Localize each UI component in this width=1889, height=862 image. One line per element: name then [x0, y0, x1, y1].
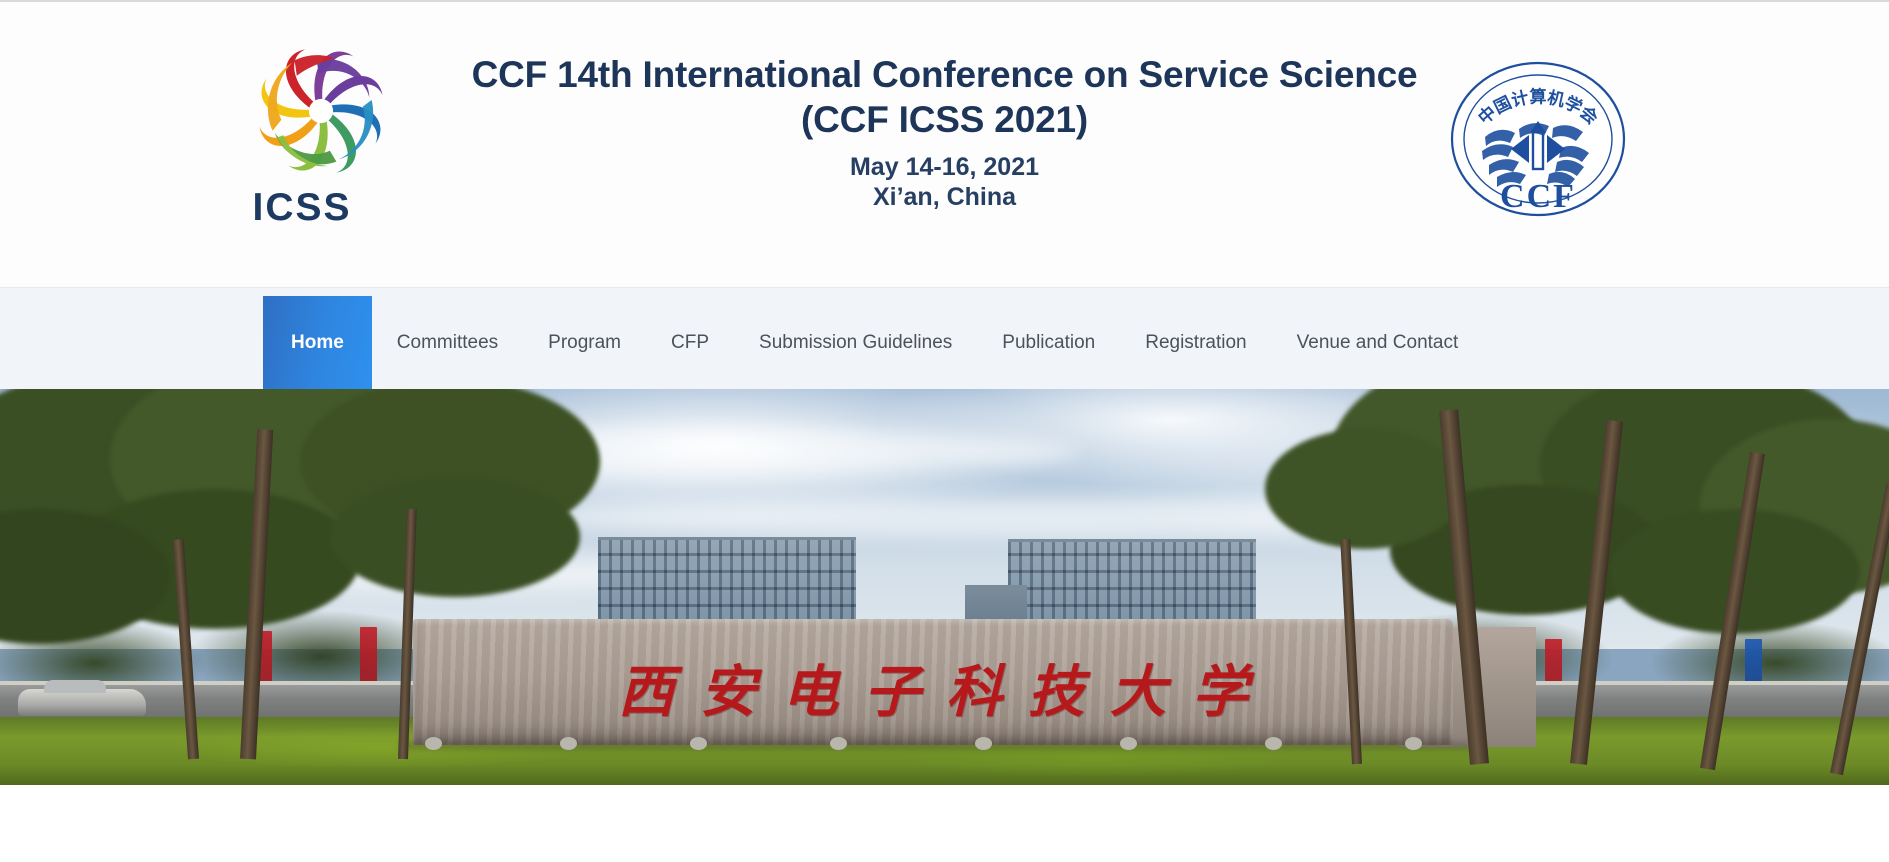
header-inner: ICSS CCF 14th International Conference o…: [245, 37, 1645, 252]
conference-title-line-2: (CCF ICSS 2021): [415, 97, 1475, 143]
icss-pinwheel-icon: [255, 45, 387, 177]
pebble: [690, 737, 707, 750]
site-header: ICSS CCF 14th International Conference o…: [0, 2, 1889, 287]
ccf-emblem-icon: 中国计算机学会: [1449, 59, 1627, 219]
pebble: [1265, 737, 1282, 750]
stone-monument: 西安电子科技大学: [413, 619, 1453, 745]
nav-item-venue-and-contact[interactable]: Venue and Contact: [1272, 296, 1484, 390]
main-navigation: Home Committees Program CFP Submission G…: [0, 287, 1889, 389]
page-root: ICSS CCF 14th International Conference o…: [0, 0, 1889, 862]
pebble: [425, 737, 442, 750]
pebble: [830, 737, 847, 750]
nav-item-publication[interactable]: Publication: [977, 296, 1120, 390]
conference-date: May 14-16, 2021: [415, 152, 1475, 183]
pine-foliage: [1265, 429, 1465, 549]
icss-wordmark: ICSS: [253, 188, 405, 227]
nav-item-registration[interactable]: Registration: [1120, 296, 1271, 390]
pebble: [975, 737, 992, 750]
nav-item-committees[interactable]: Committees: [372, 296, 523, 390]
monument-inscription: 西安电子科技大学: [413, 647, 1453, 728]
nav-item-program[interactable]: Program: [523, 296, 646, 390]
nav-item-cfp[interactable]: CFP: [646, 296, 734, 390]
nav-item-submission-guidelines[interactable]: Submission Guidelines: [734, 296, 977, 390]
pebble: [560, 737, 577, 750]
parked-car: [18, 689, 146, 716]
conference-location: Xi’an, China: [415, 182, 1475, 213]
conference-title-block: CCF 14th International Conference on Ser…: [415, 53, 1475, 213]
pine-foliage: [330, 477, 580, 597]
ccf-logo[interactable]: 中国计算机学会: [1449, 59, 1627, 219]
pebble: [1405, 737, 1422, 750]
nav-list: Home Committees Program CFP Submission G…: [263, 296, 1483, 390]
pebble: [1120, 737, 1137, 750]
hero-scene: 西安电子科技大学: [0, 389, 1889, 785]
red-banner: [360, 627, 377, 687]
svg-text:CCF: CCF: [1500, 178, 1576, 215]
nav-item-home[interactable]: Home: [263, 296, 372, 390]
icss-logo[interactable]: ICSS: [245, 45, 405, 245]
campus-hero-image: 西安电子科技大学: [0, 389, 1889, 785]
page-body-area: [0, 785, 1889, 862]
conference-title-line-1: CCF 14th International Conference on Ser…: [415, 53, 1475, 97]
